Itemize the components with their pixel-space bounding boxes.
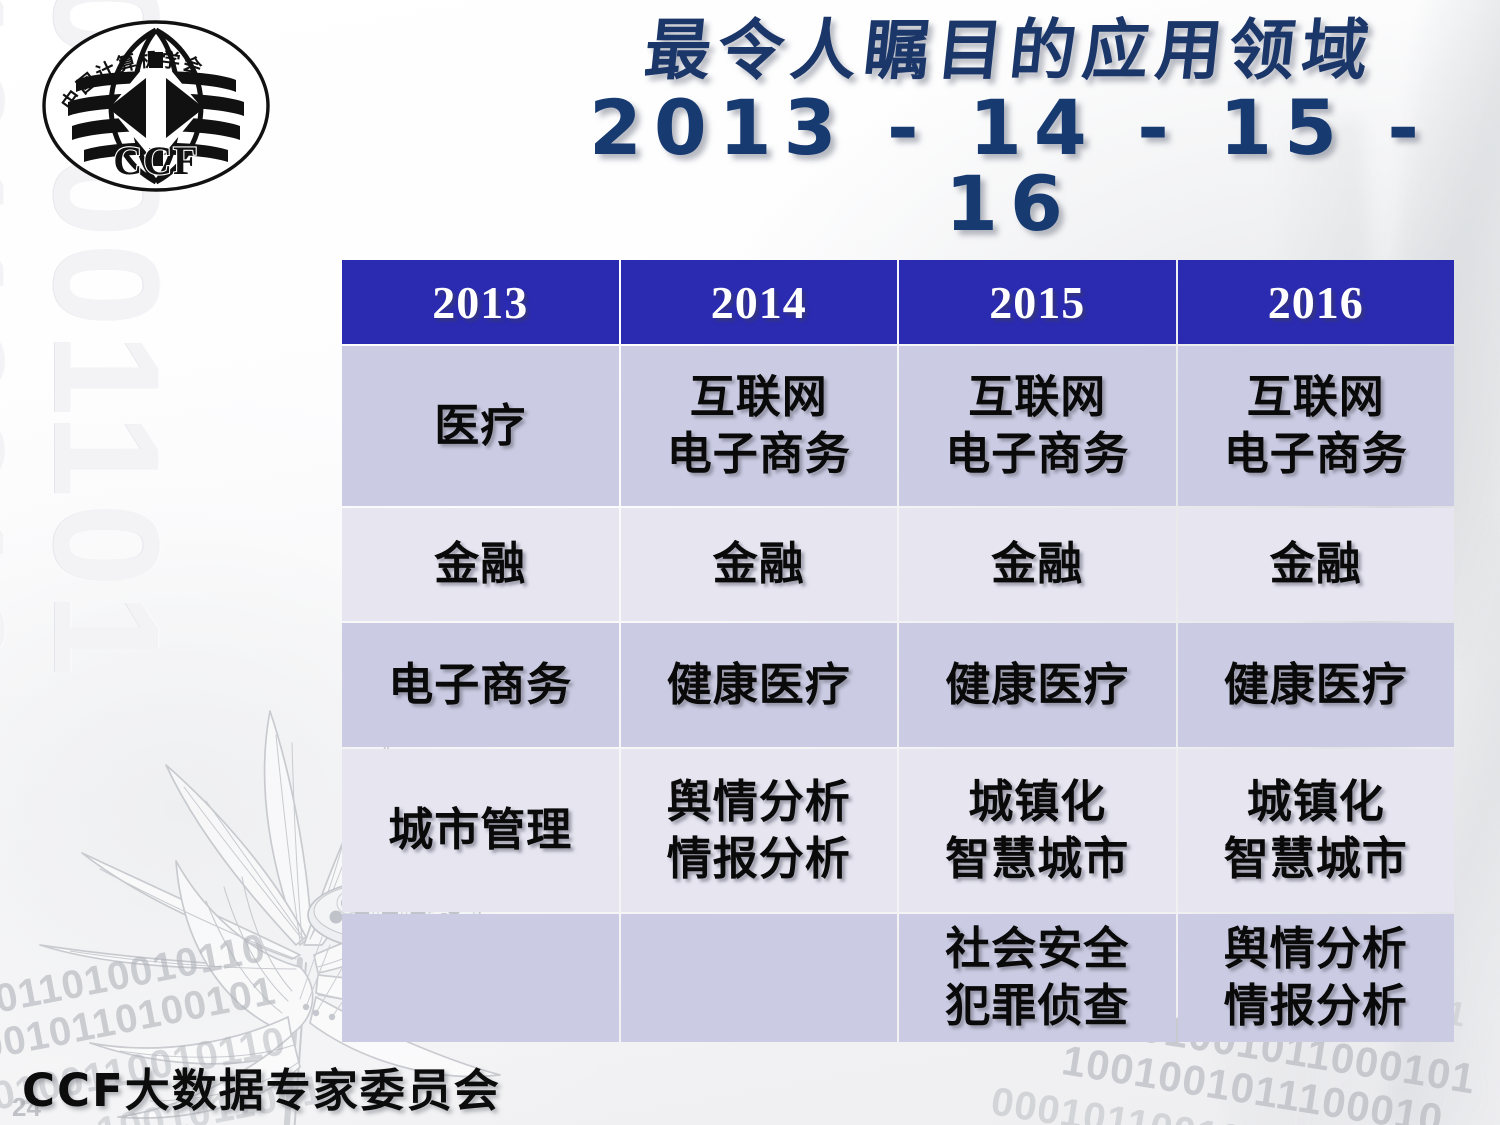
table-cell-empty xyxy=(621,914,898,1042)
cell-line: 健康医疗 xyxy=(899,657,1176,714)
table-cell: 互联网 电子商务 xyxy=(621,346,898,506)
binary-watermark: 00010110010 xyxy=(988,1080,1245,1125)
ccf-logo: 中国计算机学会 CCF xyxy=(34,16,278,196)
cell-line: 舆情分析 xyxy=(621,774,898,831)
table-row: 医疗 互联网 电子商务 互联网 电子商务 互联网 电子商务 xyxy=(342,346,1454,506)
table-header-row: 2013 2014 2015 2016 xyxy=(342,260,1454,344)
cell-line: 电子商务 xyxy=(1178,426,1455,483)
cell-line: 互联网 xyxy=(621,369,898,426)
cell-line: 金融 xyxy=(1178,536,1455,593)
table-cell: 互联网 电子商务 xyxy=(1178,346,1455,506)
cell-line: 智慧城市 xyxy=(1178,831,1455,888)
cell-line: 医疗 xyxy=(342,398,619,455)
table-cell: 城镇化 智慧城市 xyxy=(899,749,1176,912)
table-row: 电子商务 健康医疗 健康医疗 健康医疗 xyxy=(342,623,1454,747)
table-cell: 金融 xyxy=(899,508,1176,621)
cell-line: 舆情分析 xyxy=(1178,921,1455,978)
footer-brand: CCF大数据专家委员会 xyxy=(22,1054,501,1119)
binary-watermark-ghost: 10110010 xyxy=(0,0,30,677)
cell-line: 电子商务 xyxy=(621,426,898,483)
cell-line: 情报分析 xyxy=(621,831,898,888)
table-cell: 舆情分析 情报分析 xyxy=(621,749,898,912)
cell-line: 城镇化 xyxy=(899,774,1176,831)
table-cell: 电子商务 xyxy=(342,623,619,747)
cell-line: 金融 xyxy=(342,536,619,593)
binary-watermark: 0011010010110 xyxy=(0,927,269,1025)
table-cell: 医疗 xyxy=(342,346,619,506)
cell-line: 健康医疗 xyxy=(621,657,898,714)
table-row: 金融 金融 金融 金融 xyxy=(342,508,1454,621)
logo-acronym: CCF xyxy=(113,138,198,183)
table-cell: 金融 xyxy=(621,508,898,621)
table-cell: 金融 xyxy=(342,508,619,621)
table-cell-empty xyxy=(342,914,619,1042)
table-cell: 城市管理 xyxy=(342,749,619,912)
table-cell: 金融 xyxy=(1178,508,1455,621)
table-row: 城市管理 舆情分析 情报分析 城镇化 智慧城市 城镇化 智慧城市 xyxy=(342,749,1454,912)
table-cell: 健康医疗 xyxy=(1178,623,1455,747)
slide-canvas: 10110010 01001101 xyxy=(0,0,1500,1125)
slide-title-line-2: 2013 - 14 - 15 - 16 xyxy=(560,90,1460,242)
cell-line: 社会安全 xyxy=(899,921,1176,978)
application-domains-table-wrapper: 2013 2014 2015 2016 医疗 互联网 电子商务 互联网 xyxy=(340,258,1456,1044)
table-cell: 健康医疗 xyxy=(621,623,898,747)
cell-line: 互联网 xyxy=(899,369,1176,426)
cell-line: 情报分析 xyxy=(1178,978,1455,1035)
table-row: 社会安全 犯罪侦查 舆情分析 情报分析 xyxy=(342,914,1454,1042)
table-cell: 健康医疗 xyxy=(899,623,1176,747)
slide-title-line-1: 最令人瞩目的应用领域 xyxy=(556,14,1464,88)
application-domains-table: 2013 2014 2015 2016 医疗 互联网 电子商务 互联网 xyxy=(340,258,1456,1044)
cell-line: 城镇化 xyxy=(1178,774,1455,831)
binary-watermark: 1001001011100010 xyxy=(1059,1038,1446,1125)
cell-line: 金融 xyxy=(899,536,1176,593)
cell-line: 电子商务 xyxy=(342,657,619,714)
cell-line: 电子商务 xyxy=(899,426,1176,483)
cell-line: 城市管理 xyxy=(342,802,619,859)
table-cell: 城镇化 智慧城市 xyxy=(1178,749,1455,912)
cell-line: 智慧城市 xyxy=(899,831,1176,888)
cell-line: 金融 xyxy=(621,536,898,593)
slide-title: 最令人瞩目的应用领域 2013 - 14 - 15 - 16 xyxy=(560,14,1460,242)
table-header-2015: 2015 xyxy=(899,260,1176,344)
table-header-2014: 2014 xyxy=(621,260,898,344)
table-header-2013: 2013 xyxy=(342,260,619,344)
cell-line: 互联网 xyxy=(1178,369,1455,426)
table-cell: 社会安全 犯罪侦查 xyxy=(899,914,1176,1042)
table-cell: 舆情分析 情报分析 xyxy=(1178,914,1455,1042)
table-cell: 互联网 电子商务 xyxy=(899,346,1176,506)
cell-line: 犯罪侦查 xyxy=(899,978,1176,1035)
cell-line: 健康医疗 xyxy=(1178,657,1455,714)
table-header-2016: 2016 xyxy=(1178,260,1455,344)
